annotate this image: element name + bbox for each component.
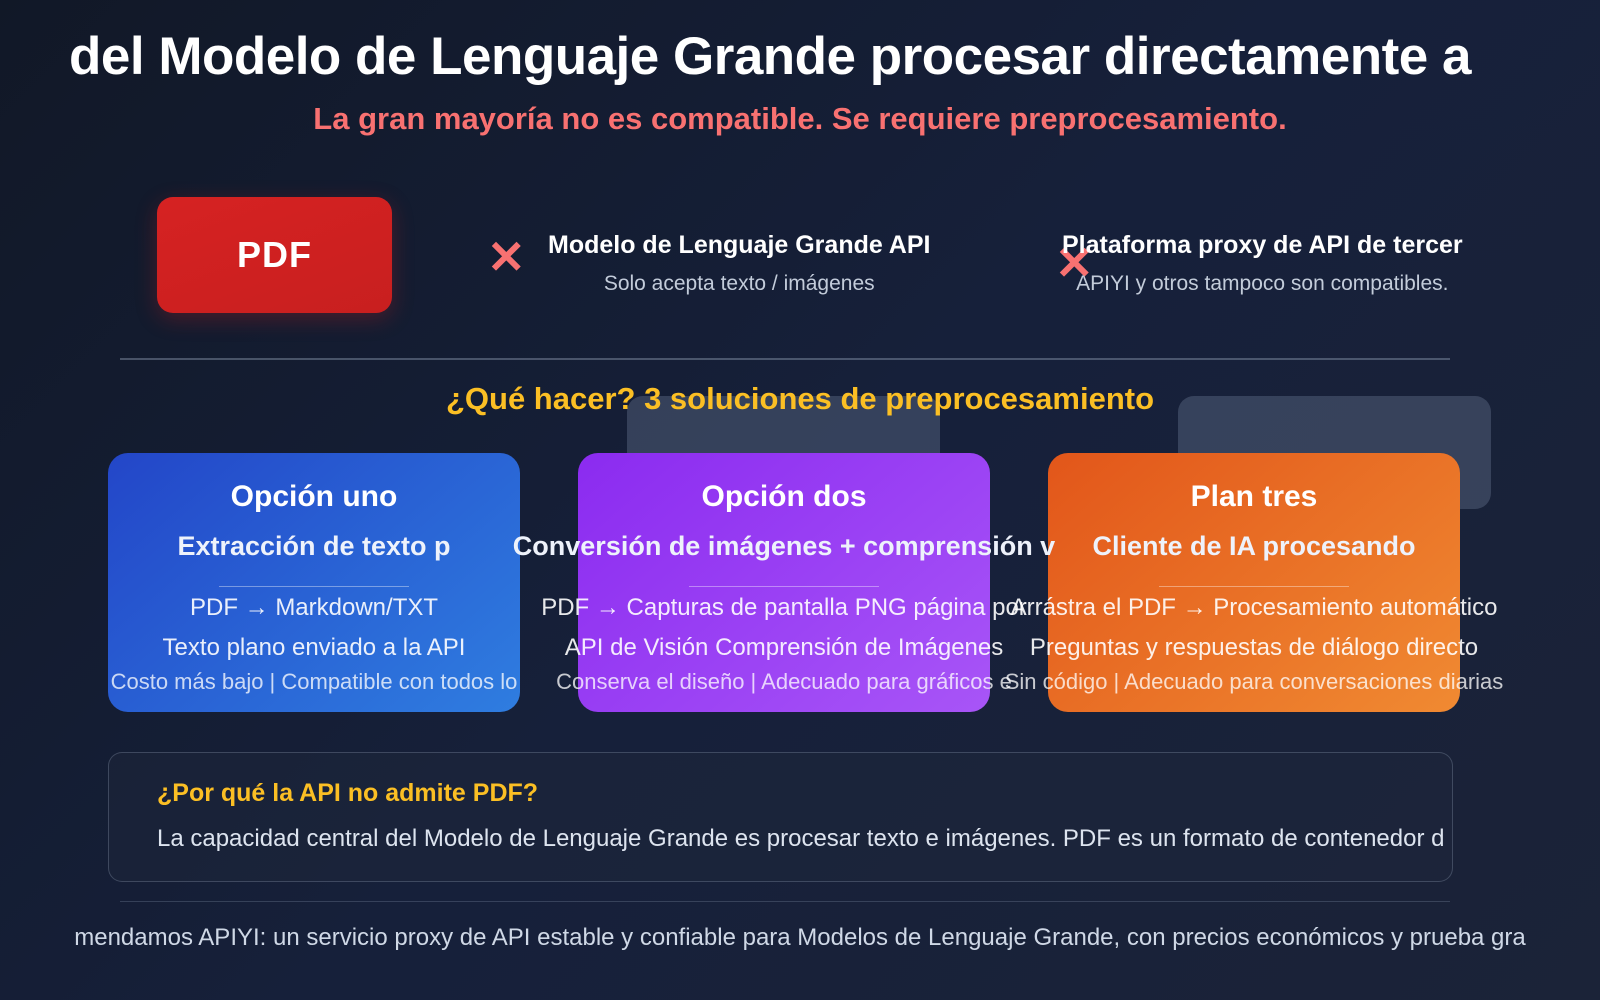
pdf-source-badge: PDF: [157, 197, 392, 313]
card-title: Opción dos: [702, 480, 867, 514]
card-step-1: PDF → Markdown/TXT: [190, 594, 438, 622]
card-footnote: Costo más bajo | Compatible con todos lo: [111, 669, 518, 695]
card-rule: [1159, 586, 1349, 587]
card-rule: [219, 586, 409, 587]
card-subtitle: Cliente de IA procesando: [1092, 531, 1415, 562]
header: del Modelo de Lenguaje Grande procesar d…: [0, 26, 1600, 137]
page-subtitle: La gran mayoría no es compatible. Se req…: [0, 101, 1600, 137]
solution-card-text-option-one: Opción uno Extracción de texto p PDF → M…: [108, 453, 520, 712]
info-box-title: ¿Por qué la API no admite PDF?: [157, 779, 538, 808]
card-step-2: Preguntas y respuestas de diálogo direct…: [1030, 634, 1478, 662]
card-title: Opción uno: [231, 480, 398, 514]
infographic-canvas: del Modelo de Lenguaje Grande procesar d…: [0, 0, 1600, 1000]
solution-card-text-option-two: Opción dos Conversión de imágenes + comp…: [578, 453, 990, 712]
card-footnote: Sin código | Adecuado para conversacione…: [1005, 669, 1504, 695]
x-icon-llm-api: ✕: [487, 234, 526, 280]
card-step-2: API de Visión Comprensión de Imágenes: [565, 634, 1003, 662]
card-title: Plan tres: [1191, 480, 1318, 514]
info-box-body: La capacidad central del Modelo de Lengu…: [157, 825, 1444, 853]
card-step-2: Texto plano enviado a la API: [163, 634, 466, 662]
target-subtitle: Solo acepta texto / imágenes: [548, 272, 930, 296]
solution-cards: Opción uno Extracción de texto p PDF → M…: [0, 453, 1600, 713]
solution-card-text-plan-three: Plan tres Cliente de IA procesando Arrás…: [1048, 453, 1460, 712]
page-title: del Modelo de Lenguaje Grande procesar d…: [0, 26, 1600, 89]
card-step-1: PDF → Capturas de pantalla PNG página po…: [541, 594, 1027, 622]
target-text-proxy-platform: Plataforma proxy de API de tercer APIYI …: [1062, 231, 1463, 296]
card-subtitle: Conversión de imágenes + comprensión v: [513, 531, 1055, 562]
target-title: Modelo de Lenguaje Grande API: [548, 231, 930, 260]
section-divider: [120, 358, 1450, 360]
card-step-1: Arrástra el PDF → Procesamiento automáti…: [1011, 594, 1498, 622]
target-text-llm-api: Modelo de Lenguaje Grande API Solo acept…: [548, 231, 930, 296]
target-subtitle: APIYI y otros tampoco son compatibles.: [1062, 272, 1463, 296]
info-box: ¿Por qué la API no admite PDF? La capaci…: [108, 752, 1453, 882]
solutions-heading: ¿Qué hacer? 3 soluciones de preprocesami…: [0, 381, 1600, 417]
card-rule: [689, 586, 879, 587]
card-subtitle: Extracción de texto p: [177, 531, 450, 562]
footer-divider: [120, 901, 1450, 902]
pdf-badge-label: PDF: [237, 234, 312, 276]
card-footnote: Conserva el diseño | Adecuado para gráfi…: [556, 669, 1012, 695]
footer-note: mendamos APIYI: un servicio proxy de API…: [0, 924, 1600, 952]
target-title: Plataforma proxy de API de tercer: [1062, 231, 1463, 260]
